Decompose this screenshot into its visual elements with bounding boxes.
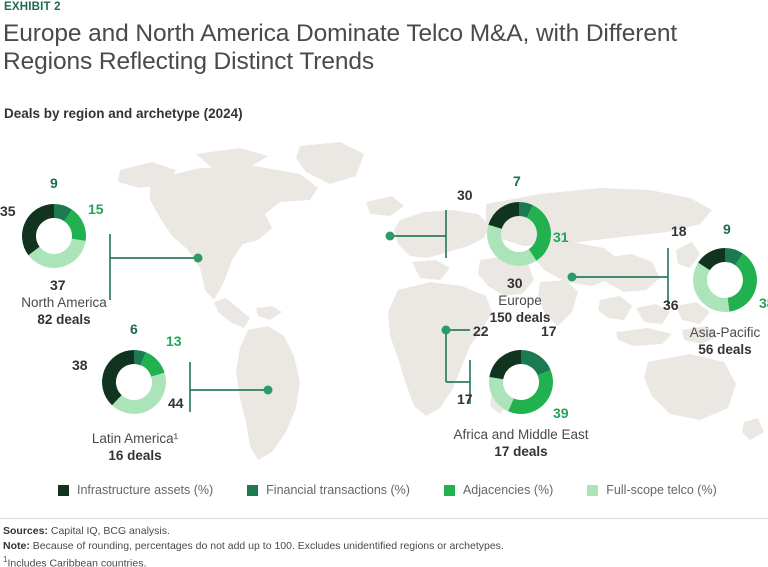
donut-value-fullscope-africa-middle-east: 17 bbox=[457, 392, 473, 406]
donut-value-financial-asia-pacific: 9 bbox=[723, 222, 731, 236]
region-name-asia-pacific: Asia-Pacific bbox=[690, 325, 761, 340]
donut-group-asia-pacific: 9 38 36 18 Asia-Pacific 56 deals bbox=[685, 240, 765, 320]
region-label-asia-pacific: Asia-Pacific 56 deals bbox=[653, 324, 768, 359]
subtitle-main: Deals by region and archetype bbox=[4, 106, 200, 121]
legend-item-adjacencies[interactable]: Adjacencies (%) bbox=[444, 483, 553, 497]
footer-note-line: Note: Because of rounding, percentages d… bbox=[3, 539, 763, 554]
donut-value-financial-latin-america: 6 bbox=[130, 322, 138, 336]
legend-label-fullscope: Full-scope telco (%) bbox=[606, 483, 716, 497]
donut-value-infrastructure-latin-america: 38 bbox=[72, 358, 88, 372]
donut-chart-asia-pacific[interactable] bbox=[685, 240, 765, 320]
donut-slice-financial bbox=[521, 350, 551, 375]
donut-chart-north-america[interactable] bbox=[14, 196, 94, 276]
donut-svg-europe bbox=[479, 194, 559, 274]
donut-value-financial-europe: 7 bbox=[513, 174, 521, 188]
footer-sources-text: Capital IQ, BCG analysis. bbox=[51, 525, 170, 537]
donut-group-north-america: 9 15 37 35 North America 82 deals bbox=[14, 196, 94, 276]
map-dot-asia-pacific bbox=[568, 273, 577, 282]
donut-chart-europe[interactable] bbox=[479, 194, 559, 274]
donut-slice-adjacencies bbox=[508, 370, 553, 414]
donut-value-financial-africa-middle-east: 17 bbox=[541, 324, 557, 338]
donut-value-infrastructure-asia-pacific: 18 bbox=[671, 224, 687, 238]
region-deals-north-america: 82 deals bbox=[4, 311, 124, 328]
legend-label-financial: Financial transactions (%) bbox=[266, 483, 410, 497]
donut-group-europe: 7 31 30 30 Europe 150 deals bbox=[479, 194, 559, 274]
donut-value-adjacencies-europe: 31 bbox=[553, 230, 569, 244]
footer-divider bbox=[0, 518, 768, 519]
donut-value-infrastructure-africa-middle-east: 22 bbox=[473, 324, 489, 338]
donut-slice-fullscope bbox=[693, 263, 729, 312]
donut-chart-latin-america[interactable] bbox=[94, 342, 174, 422]
region-label-latin-america: Latin America¹ 16 deals bbox=[74, 430, 196, 465]
donut-svg-africa-middle-east bbox=[481, 342, 561, 422]
chart-subtitle: Deals by region and archetype (2024) bbox=[4, 106, 243, 121]
region-name-north-america: North America bbox=[21, 295, 107, 310]
donut-slice-infrastructure bbox=[22, 204, 54, 255]
footer-footnote-line: 1Includes Caribbean countries. bbox=[3, 554, 763, 567]
legend-swatch-financial-icon bbox=[247, 485, 258, 496]
donut-value-financial-north-america: 9 bbox=[50, 176, 58, 190]
legend-item-financial[interactable]: Financial transactions (%) bbox=[247, 483, 410, 497]
legend-label-adjacencies: Adjacencies (%) bbox=[463, 483, 553, 497]
donut-value-fullscope-europe: 30 bbox=[507, 276, 523, 290]
legend-swatch-adjacencies-icon bbox=[444, 485, 455, 496]
donut-slice-fullscope bbox=[489, 377, 514, 411]
legend-swatch-infrastructure-icon bbox=[58, 485, 69, 496]
subtitle-year: (2024) bbox=[204, 106, 243, 121]
region-name-europe: Europe bbox=[498, 293, 542, 308]
donut-value-fullscope-asia-pacific: 36 bbox=[663, 298, 679, 312]
donut-svg-latin-america bbox=[94, 342, 174, 422]
map-dot-north-america bbox=[194, 254, 203, 263]
legend-swatch-fullscope-icon bbox=[587, 485, 598, 496]
donut-slice-infrastructure bbox=[489, 350, 521, 379]
region-name-latin-america: Latin America¹ bbox=[92, 431, 178, 446]
legend-item-infrastructure[interactable]: Infrastructure assets (%) bbox=[58, 483, 213, 497]
donut-value-adjacencies-asia-pacific: 38 bbox=[759, 296, 768, 310]
donut-group-latin-america: 6 13 44 38 Latin America¹ 16 deals bbox=[94, 342, 174, 422]
region-label-africa-middle-east: Africa and Middle East 17 deals bbox=[429, 426, 613, 461]
donut-value-adjacencies-africa-middle-east: 39 bbox=[553, 406, 569, 420]
donut-svg-north-america bbox=[14, 196, 94, 276]
exhibit-page: EXHIBIT 2 Europe and North America Domin… bbox=[0, 0, 768, 567]
map-dot-latin-america bbox=[264, 386, 273, 395]
footer-note-text: Because of rounding, percentages do not … bbox=[33, 540, 504, 552]
donut-slice-infrastructure bbox=[488, 202, 519, 229]
donut-chart-africa-middle-east[interactable] bbox=[481, 342, 561, 422]
page-title: Europe and North America Dominate Telco … bbox=[3, 20, 743, 77]
donut-value-infrastructure-europe: 30 bbox=[457, 188, 473, 202]
donut-value-adjacencies-latin-america: 13 bbox=[166, 334, 182, 348]
exhibit-label: EXHIBIT 2 bbox=[4, 1, 61, 13]
map-dot-europe bbox=[386, 232, 395, 241]
region-deals-latin-america: 16 deals bbox=[74, 447, 196, 464]
map-dot-africa bbox=[442, 326, 451, 335]
donut-group-africa-middle-east: 17 39 17 22 Africa and Middle East 17 de… bbox=[481, 342, 561, 422]
footer-footnote-text: Includes Caribbean countries. bbox=[7, 557, 146, 567]
legend-label-infrastructure: Infrastructure assets (%) bbox=[77, 483, 213, 497]
region-name-africa-middle-east: Africa and Middle East bbox=[453, 427, 588, 442]
footer-note-label: Note: bbox=[3, 540, 30, 552]
legend-item-fullscope[interactable]: Full-scope telco (%) bbox=[587, 483, 716, 497]
donut-value-fullscope-latin-america: 44 bbox=[168, 396, 184, 410]
donut-slice-infrastructure bbox=[102, 350, 134, 405]
footer-notes: Sources: Capital IQ, BCG analysis. Note:… bbox=[3, 524, 763, 567]
footer-sources-line: Sources: Capital IQ, BCG analysis. bbox=[3, 524, 763, 539]
donut-value-infrastructure-north-america: 35 bbox=[0, 204, 16, 218]
footer-sources-label: Sources: bbox=[3, 525, 48, 537]
donut-slice-fullscope bbox=[487, 225, 536, 266]
donut-value-adjacencies-north-america: 15 bbox=[88, 202, 104, 216]
donut-svg-asia-pacific bbox=[685, 240, 765, 320]
donut-value-fullscope-north-america: 37 bbox=[50, 278, 66, 292]
region-label-north-america: North America 82 deals bbox=[4, 294, 124, 329]
chart-legend: Infrastructure assets (%) Financial tran… bbox=[0, 483, 768, 497]
donut-slice-fullscope bbox=[112, 373, 166, 414]
region-deals-africa-middle-east: 17 deals bbox=[429, 443, 613, 460]
region-deals-asia-pacific: 56 deals bbox=[653, 341, 768, 358]
region-label-europe: Europe 150 deals bbox=[467, 292, 573, 327]
